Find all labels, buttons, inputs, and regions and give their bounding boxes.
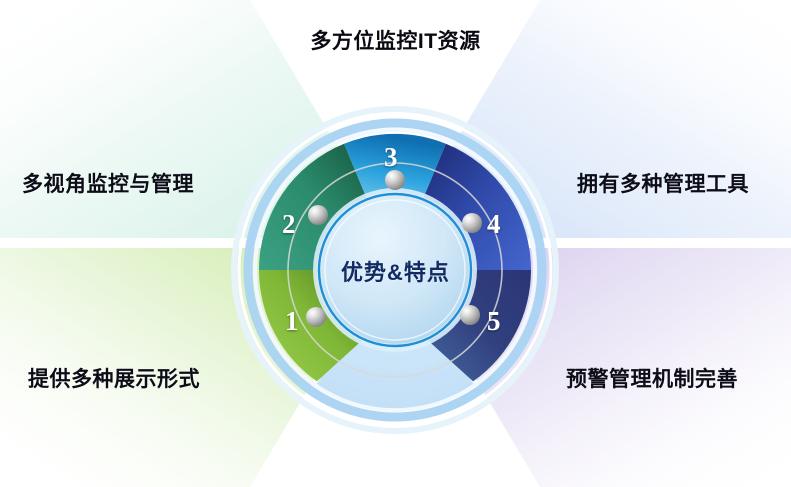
label-top: 多方位监控IT资源 bbox=[0, 25, 791, 55]
label-left-bottom: 提供多种展示形式 bbox=[28, 363, 200, 393]
sphere-marker-5[interactable] bbox=[460, 305, 480, 325]
sphere-marker-2[interactable] bbox=[308, 205, 328, 225]
label-left-top: 多视角监控与管理 bbox=[22, 168, 194, 198]
diagram-canvas: 1 2 3 4 5 优势&特点 多方位监控IT资源 多视角监控与管理 提供多种展… bbox=[0, 0, 791, 487]
label-right-bottom: 预警管理机制完善 bbox=[566, 363, 738, 393]
wheel-graphic bbox=[0, 0, 791, 487]
center-disc bbox=[321, 196, 469, 344]
label-right-top: 拥有多种管理工具 bbox=[577, 168, 749, 198]
sphere-marker-1[interactable] bbox=[306, 307, 326, 327]
sphere-marker-4[interactable] bbox=[462, 213, 482, 233]
sphere-marker-3[interactable] bbox=[385, 170, 405, 190]
